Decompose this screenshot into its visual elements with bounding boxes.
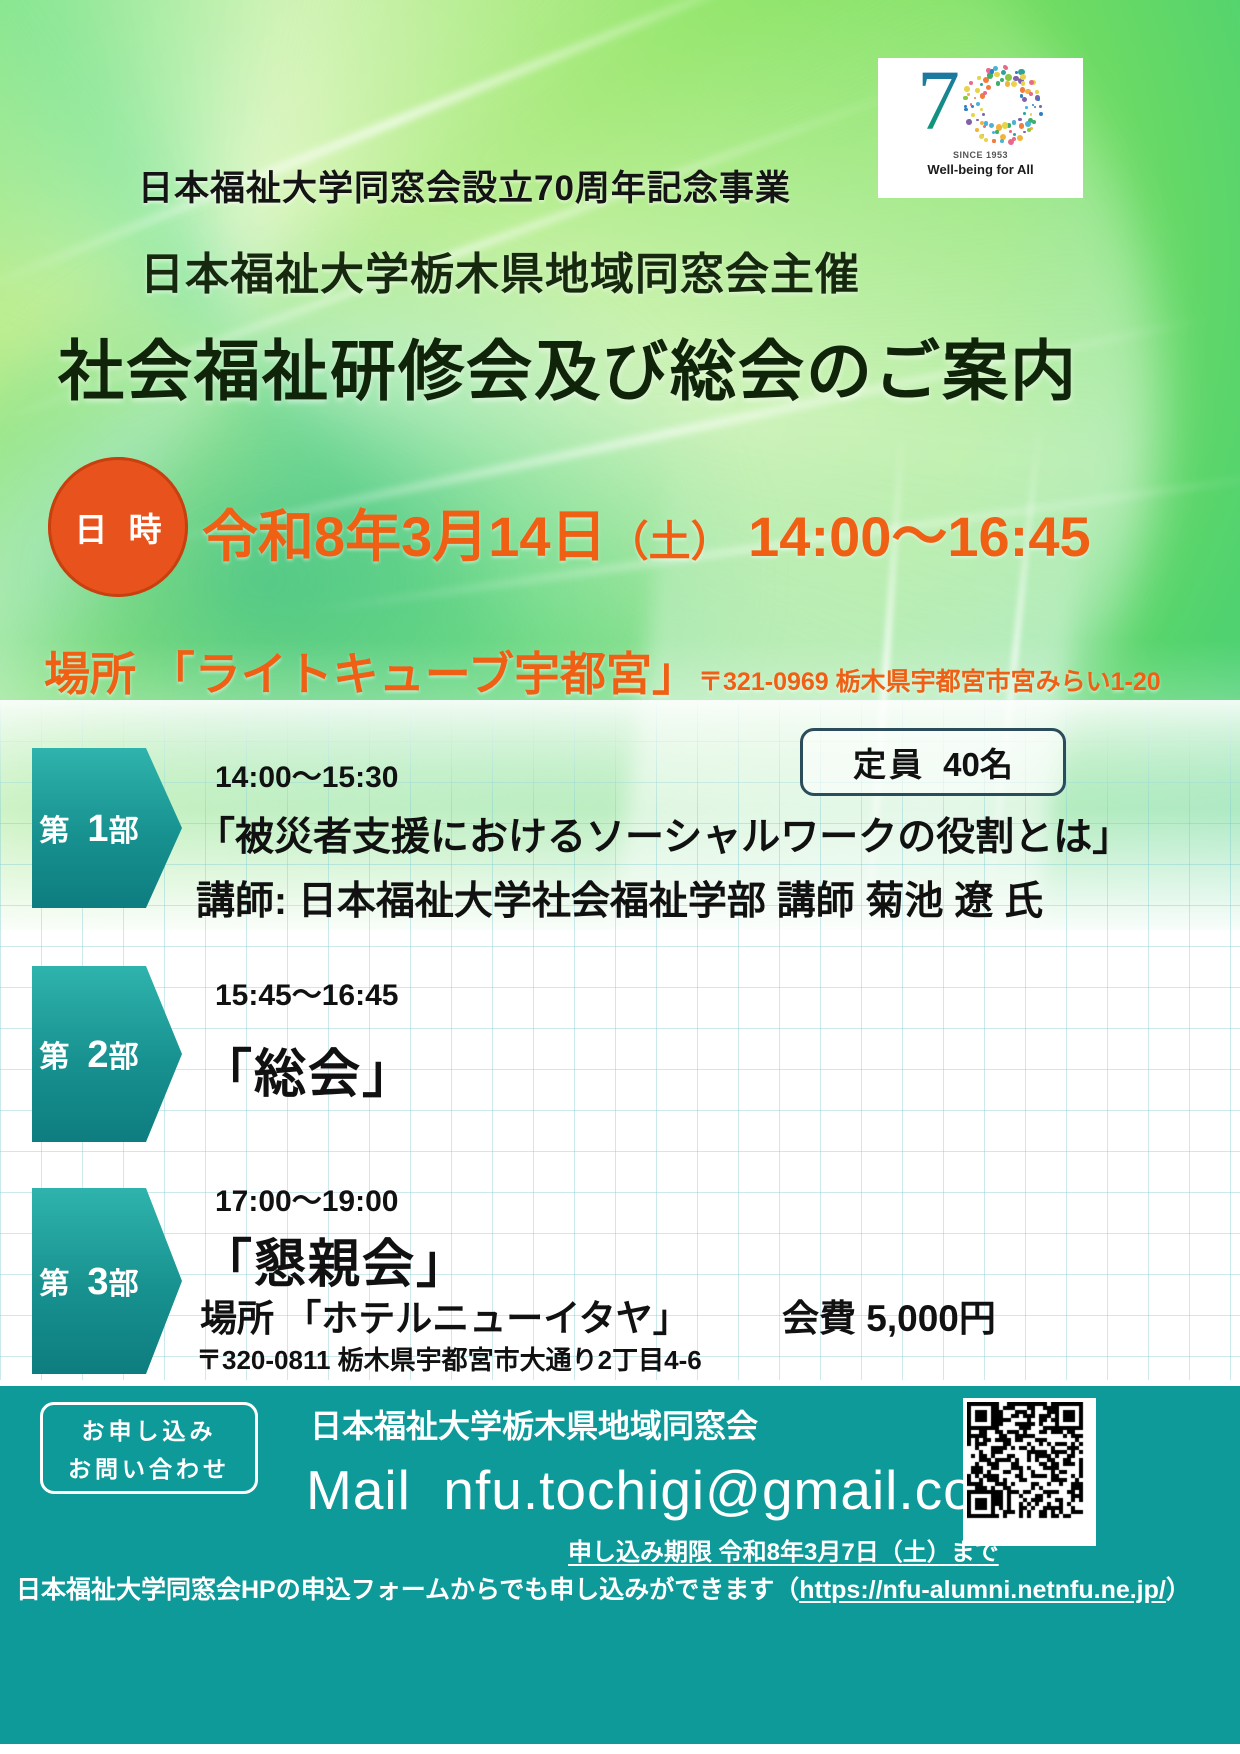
hp-url[interactable]: https://nfu-alumni.netnfu.ne.jp/: [799, 1576, 1166, 1604]
logo-dot-ring-icon: [962, 64, 1044, 146]
capacity-label: 定員: [853, 738, 925, 786]
time-part: 14:00〜16:45: [748, 505, 1090, 568]
bottom-white-strip: [0, 1744, 1240, 1754]
contact-mail[interactable]: Mail nfu.tochigi@gmail.com: [306, 1458, 1022, 1522]
qr-code-icon[interactable]: [963, 1398, 1096, 1546]
datetime-value: 令和8年3月14日（土） 14:00〜16:45: [202, 492, 1091, 573]
venue-address: 〒321-0969 栃木県宇都宮市宮みらい1-20: [698, 668, 1161, 696]
venue-line: 場所 「ライトキューブ宇都宮」〒321-0969 栃木県宇都宮市宮みらい1-20: [44, 638, 1161, 704]
part-1-tag-label: 第1部: [39, 806, 174, 851]
capacity-value: 40名: [943, 738, 1013, 786]
application-deadline: 申し込み期限 令和8年3月7日（土）まで: [568, 1532, 999, 1567]
venue-label: 場所: [44, 648, 136, 700]
hp-text-after: ）: [1166, 1576, 1191, 1604]
part-3-fee: 会費 5,000円: [782, 1288, 996, 1342]
part-3-address: 〒320-0811 栃木県宇都宮市大通り2丁目4-6: [196, 1340, 702, 1377]
logo-seven-glyph: 7: [917, 64, 960, 136]
contact-line-2: お問い合わせ: [68, 1450, 230, 1484]
weekday-part: （土）: [607, 518, 733, 565]
part-3-tag-label: 第3部: [39, 1259, 174, 1304]
part-3-time: 17:00〜19:00: [215, 1176, 398, 1220]
part-2-time: 15:45〜16:45: [215, 970, 398, 1014]
part-1-lecturer: 講師: 日本福祉大学社会福祉学部 講師 菊池 遼 氏: [196, 870, 1043, 926]
logo-tagline: Well-being for All: [927, 162, 1033, 177]
part-3-theme: 「懇親会」: [200, 1222, 470, 1297]
date-part: 令和8年3月14日: [202, 505, 607, 568]
capacity-badge: 定員 40名: [800, 728, 1066, 796]
hp-text-before: 日本福祉大学同窓会HPの申込フォームからでも申し込みができます（: [16, 1576, 799, 1604]
contact-line-1: お申し込み: [82, 1412, 217, 1446]
mail-label: Mail: [306, 1459, 411, 1521]
contact-label-box: お申し込み お問い合わせ: [40, 1402, 258, 1494]
logo-mark: 7: [917, 64, 1044, 148]
organization-name: 日本福祉大学栃木県地域同窓会: [310, 1401, 758, 1447]
logo-since-text: SINCE 1953: [953, 150, 1008, 160]
poster-root: 7 SINCE 1953 Well-being for All 日本福祉大学同窓…: [0, 0, 1240, 1754]
page-title: 社会福祉研修会及び総会のご案内: [58, 318, 1078, 414]
anniversary-kicker: 日本福祉大学同窓会設立70周年記念事業: [138, 160, 791, 211]
part-1-theme: 「被災者支援におけるソーシャルワークの役割とは」: [196, 806, 1131, 862]
mail-address[interactable]: nfu.tochigi@gmail.com: [443, 1459, 1021, 1521]
datetime-badge-label: 日 時: [68, 503, 167, 551]
venue-name: 「ライトキューブ宇都宮」: [149, 648, 698, 700]
host-line: 日本福祉大学栃木県地域同窓会主催: [140, 238, 860, 302]
part-2-tag-label: 第2部: [39, 1032, 174, 1077]
anniversary-logo: 7 SINCE 1953 Well-being for All: [878, 58, 1083, 198]
hp-application-line: 日本福祉大学同窓会HPの申込フォームからでも申し込みができます（https://…: [16, 1570, 1191, 1606]
part-1-time: 14:00〜15:30: [215, 752, 398, 796]
part-2-theme: 「総会」: [200, 1032, 416, 1107]
datetime-badge: 日 時: [48, 457, 188, 597]
part-3-venue: 場所 「ホテルニューイタヤ」: [200, 1288, 690, 1342]
